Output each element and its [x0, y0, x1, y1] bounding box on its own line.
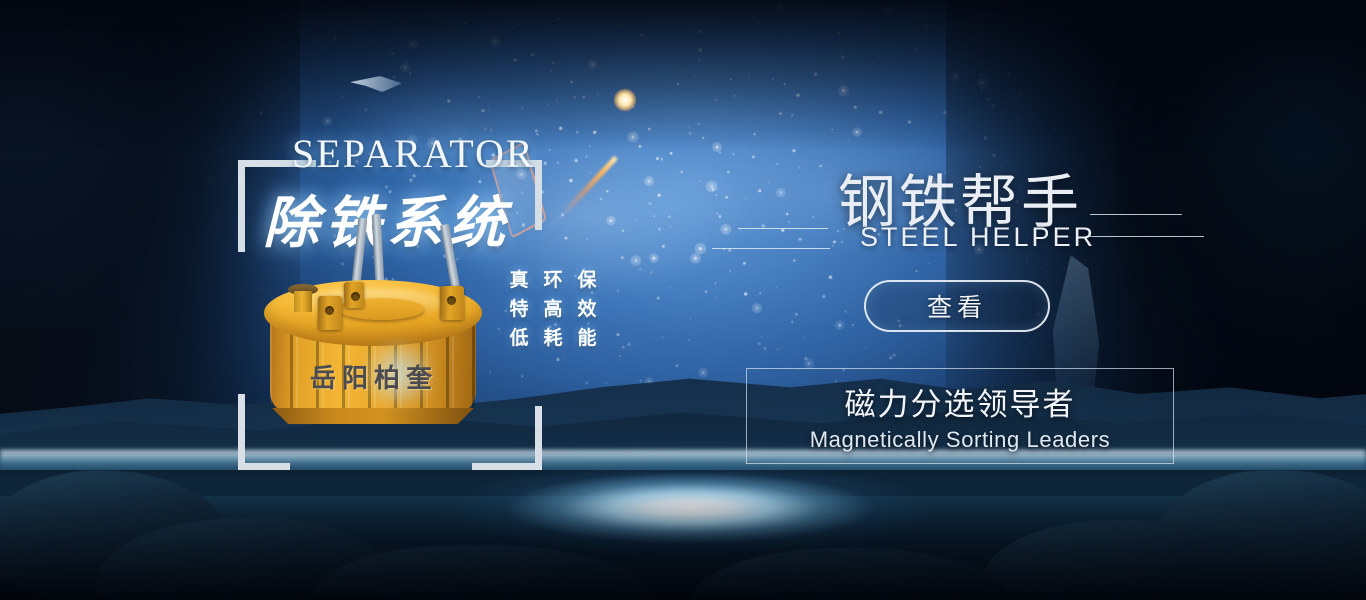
- feature-keyword: 真: [505, 268, 533, 293]
- view-button-label: 查看: [927, 288, 987, 324]
- feature-keyword: 耗: [539, 326, 567, 351]
- machine-lifting-lug: [344, 282, 364, 308]
- headline-rule-left-upper: [738, 228, 828, 229]
- bottom-vignette: [0, 480, 1366, 600]
- feature-keyword: 环: [539, 268, 567, 293]
- comet-head: [614, 89, 636, 111]
- separator-english-title: SEPARATOR: [292, 130, 535, 177]
- separator-chinese-title: 除铁系统: [263, 178, 511, 259]
- feature-keyword: 低: [505, 326, 533, 351]
- machine-valve: [288, 284, 318, 312]
- feature-keyword: 效: [573, 297, 601, 322]
- view-button[interactable]: 查看: [864, 280, 1050, 332]
- feature-keyword: 保: [573, 268, 601, 293]
- tagline-box: 磁力分选领导者 Magnetically Sorting Leaders: [746, 368, 1174, 464]
- feature-keyword-grid: 真 环 保 特 高 效 低 耗 能: [505, 268, 601, 351]
- hero-banner: SEPARATOR 除铁系统 真 环 保 特 高 效 低 耗 能 岳阳柏奎: [0, 0, 1366, 600]
- feature-keyword: 高: [539, 297, 567, 322]
- machine-brand-label: 岳阳柏奎: [286, 358, 462, 395]
- magnetic-separator-icon: 岳阳柏奎: [258, 258, 488, 436]
- headline-rule-right-lower: [1086, 236, 1204, 237]
- headline-english: STEEL HELPER: [860, 222, 1096, 253]
- machine-base-skirt: [272, 408, 474, 424]
- top-vignette: [0, 0, 1366, 150]
- feature-keyword: 能: [573, 326, 601, 351]
- valve-stem: [294, 291, 312, 312]
- feature-keyword: 特: [505, 297, 533, 322]
- headline-rule-right-upper: [1090, 214, 1182, 215]
- machine-lifting-lug: [318, 296, 342, 330]
- tagline-english: Magnetically Sorting Leaders: [810, 427, 1111, 453]
- machine-lifting-lug: [440, 286, 464, 320]
- headline-rule-left-lower: [712, 248, 830, 249]
- tagline-chinese: 磁力分选领导者: [845, 379, 1076, 424]
